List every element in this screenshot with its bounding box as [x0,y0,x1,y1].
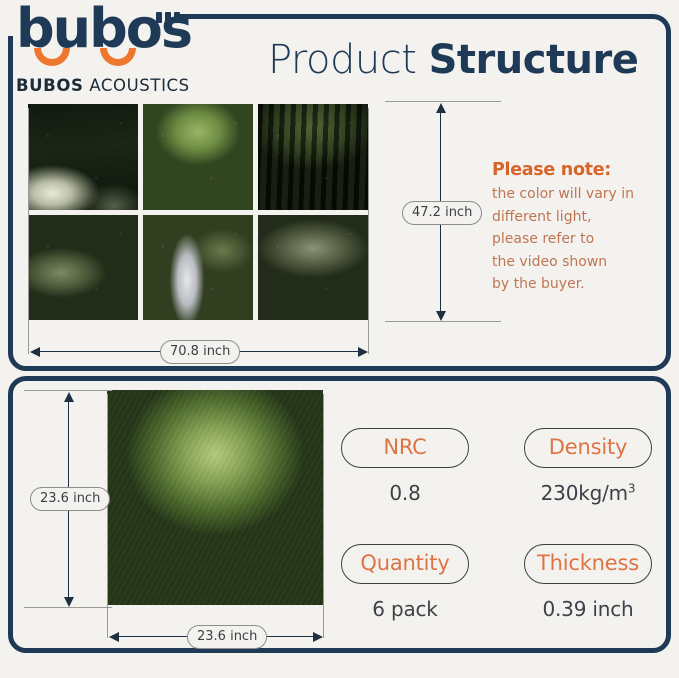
arrow-left-icon-top [30,347,40,357]
grid-tile-4 [28,215,138,321]
arrow-up-icon-bottom [64,392,74,402]
please-note-body: the color will vary in different light, … [492,183,658,296]
guide-line-left [28,108,29,354]
arrow-down-icon-top [436,311,446,321]
spec-density-value-text: 230kg/m [541,481,628,505]
infographic-canvas: bubos BUBOS ACOUSTICS Product Structure … [0,0,679,678]
dimension-label-width-top: 70.8 inch [160,340,240,364]
grid-tile-6 [258,215,368,321]
arrow-up-icon-top [436,103,446,113]
page-title-bold: Structure [429,37,639,83]
please-note-title: Please note: [492,158,658,182]
brand-subtitle-bold: BUBOS [16,76,83,95]
guide-line-top [385,101,501,102]
brand-subtitle-light: ACOUSTICS [89,76,189,95]
spec-density-exponent: 3 [628,481,635,495]
guide-line-img-right [323,394,324,638]
product-single-image [107,390,323,605]
dimension-label-width-bottom: 23.6 inch [187,625,267,649]
arrow-left-icon-bottom [109,632,119,642]
spec-density: Density 230kg/m3 [524,428,652,505]
grid-tile-3 [258,104,368,210]
please-note-line-5: by the buyer. [492,273,658,296]
page-title-light: Product [268,37,416,83]
grid-tile-5 [143,215,253,321]
arrow-right-icon-top [358,347,368,357]
orange-smile-arc-icon-2 [100,48,136,66]
guide-line-bottom-base [24,607,112,608]
spec-nrc-value: 0.8 [341,481,469,505]
spec-density-value: 230kg/m3 [524,481,652,505]
spec-quantity-label: Quantity [341,544,469,584]
brand-logo: bubos [16,4,184,66]
guide-line-bottom-top [24,390,112,391]
spec-nrc: NRC 0.8 [341,428,469,505]
brand-subtitle: BUBOS ACOUSTICS [16,76,190,95]
spec-thickness: Thickness 0.39 inch [524,544,652,621]
please-note-line-1: the color will vary in [492,183,658,206]
spec-thickness-label: Thickness [524,544,652,584]
dimension-label-height-top: 47.2 inch [402,201,482,225]
grid-tile-2 [143,104,253,210]
spec-thickness-value: 0.39 inch [524,597,652,621]
arrow-down-icon-bottom [64,597,74,607]
please-note-line-2: different light, [492,206,658,229]
please-note-block: Please note: the color will vary in diff… [492,158,658,296]
grid-tile-1 [28,104,138,210]
page-title: Product Structure [268,36,638,84]
arrow-right-icon-bottom [313,632,323,642]
spec-quantity: Quantity 6 pack [341,544,469,621]
product-image-grid [28,104,368,320]
spec-quantity-value: 6 pack [341,597,469,621]
please-note-line-4: the video shown [492,251,658,274]
guide-line-right [368,108,369,354]
please-note-line-3: please refer to [492,228,658,251]
spec-density-label: Density [524,428,652,468]
guide-line-bottom [385,321,501,322]
orange-smile-arc-icon-1 [34,48,70,66]
spec-nrc-label: NRC [341,428,469,468]
logo-wordmark-group: bubos [16,4,184,66]
dimension-label-height-bottom: 23.6 inch [30,487,110,511]
three-dashes-icon [156,12,188,24]
guide-line-img-left [107,394,108,638]
